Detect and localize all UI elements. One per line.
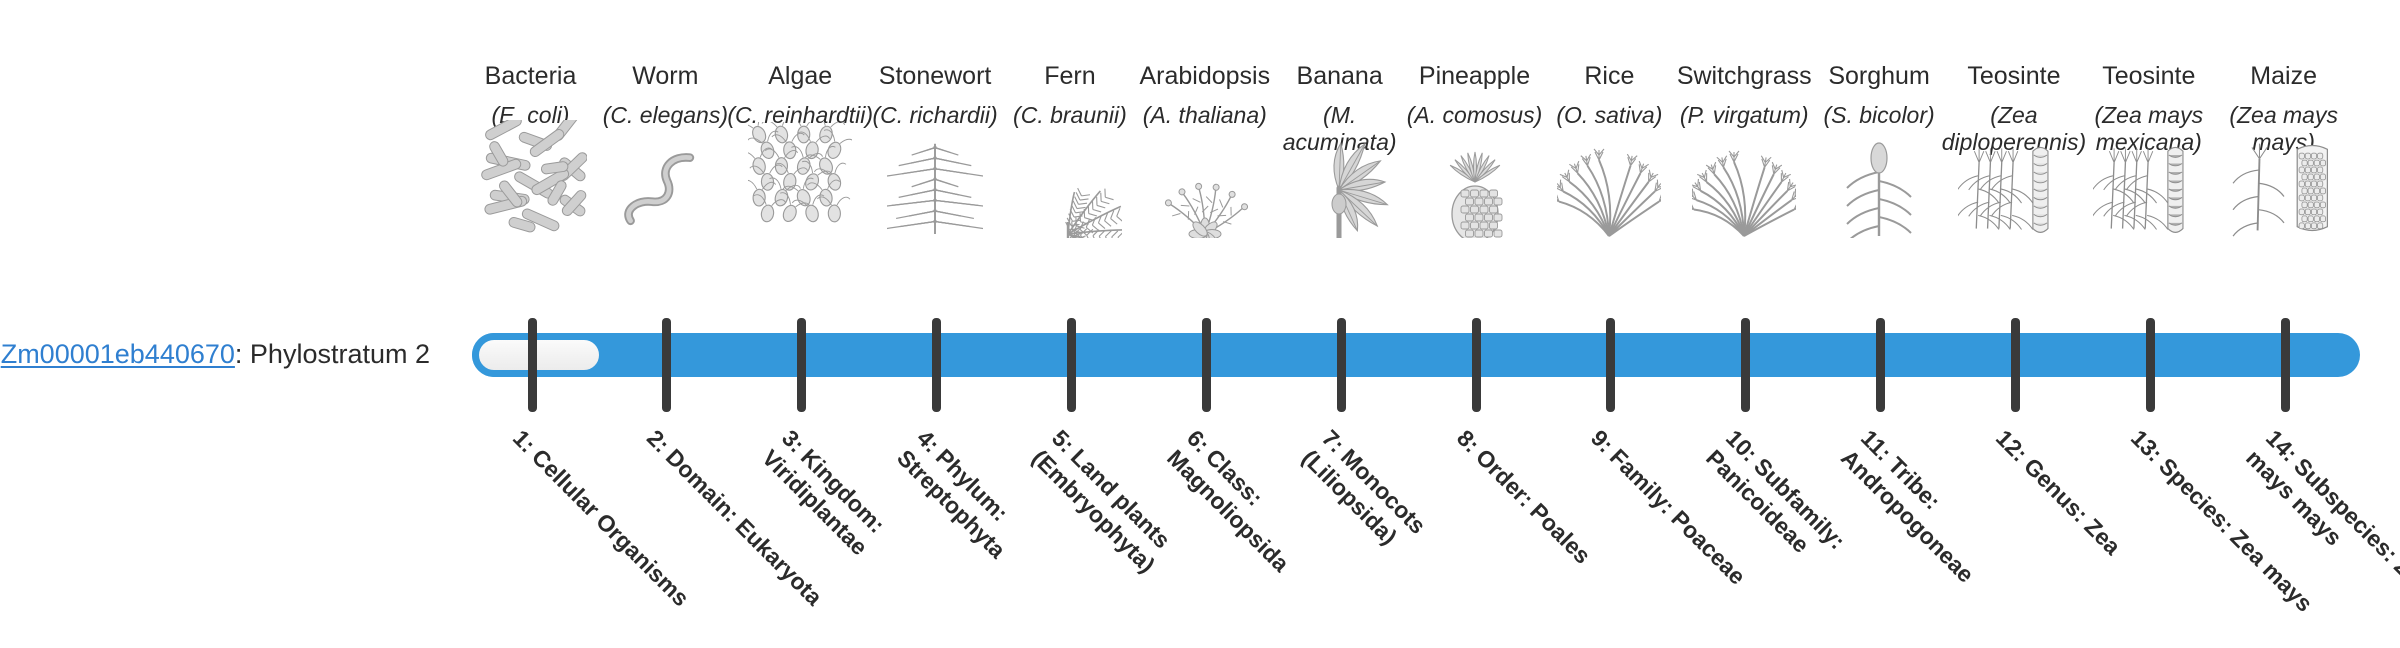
species-column: Fern(C. braunii)5: Land plants (Embryoph… bbox=[1000, 0, 1140, 580]
arabidopsis-illustration bbox=[1135, 148, 1275, 238]
species-column: Rice(O. sativa)9: Family: Poaceae bbox=[1539, 0, 1679, 580]
phylostratum-name: Subspecies: Zea mays mays bbox=[2241, 445, 2400, 600]
rice-illustration bbox=[1539, 148, 1679, 238]
banana-illustration bbox=[1270, 148, 1410, 238]
phylostratum-number: 13: bbox=[2126, 425, 2168, 467]
phylostratum-name: Phylum: Streptophyta bbox=[892, 444, 1013, 564]
species-scientific-name: (A. thaliana) bbox=[1131, 102, 1279, 129]
phylostratum-tick bbox=[1202, 318, 1211, 412]
species-column: Arabidopsis(A. thaliana)6: Class: Magnol… bbox=[1135, 0, 1275, 580]
phylostratigraphy-figure: Zm00001eb440670: Phylostratum 2 Bacteria… bbox=[0, 0, 2400, 580]
phylostratum-tick bbox=[1067, 318, 1076, 412]
phylostratum-tick bbox=[2011, 318, 2020, 412]
phylostratum-tick bbox=[2146, 318, 2155, 412]
species-column: Sorghum(S. bicolor)11: Tribe: Andropogon… bbox=[1809, 0, 1949, 580]
phylostratum-tick bbox=[932, 318, 941, 412]
switchgrass-illustration bbox=[1674, 148, 1814, 238]
species-column: Bacteria(E. coli)1: Cellular Organisms bbox=[461, 0, 601, 580]
phylostratum-tick bbox=[1741, 318, 1750, 412]
species-column: Pineapple(A. comosus)8: Order: Poales bbox=[1405, 0, 1545, 580]
phylostratum-tick bbox=[1876, 318, 1885, 412]
species-column: Teosinte(Zea mays mexicana)13: Species: … bbox=[2079, 0, 2219, 580]
species-common-name: Maize bbox=[2202, 62, 2366, 90]
bacteria-illustration bbox=[461, 148, 601, 238]
phylostratum-tick bbox=[797, 318, 806, 412]
species-column: Teosinte(Zea diploperennis)12: Genus: Ze… bbox=[1944, 0, 2084, 580]
species-column: Maize(Zea mays mays)14: Subspecies: Zea … bbox=[2214, 0, 2354, 580]
phylostratum-number: 12: bbox=[1991, 425, 2033, 467]
maize-illustration bbox=[2214, 148, 2354, 238]
species-scientific-name: (C. braunii) bbox=[996, 102, 1144, 129]
algae-illustration bbox=[730, 148, 870, 238]
species-column: Algae(C. reinhardtii)3: Kingdom: Viridip… bbox=[730, 0, 870, 580]
gene-label-separator: : bbox=[235, 339, 250, 369]
gene-phylostratum-text: Phylostratum 2 bbox=[250, 339, 430, 369]
species-scientific-name: (C. elegans) bbox=[591, 102, 739, 129]
species-scientific-name: (O. sativa) bbox=[1535, 102, 1683, 129]
stonewort-illustration bbox=[865, 148, 1005, 238]
phylostratum-tick bbox=[2281, 318, 2290, 412]
gene-phylostratum-label: Zm00001eb440670: Phylostratum 2 bbox=[0, 338, 430, 370]
phylostratum-tick bbox=[662, 318, 671, 412]
phylostratum-tick bbox=[1472, 318, 1481, 412]
species-column: Worm(C. elegans)2: Domain: Eukaryota bbox=[595, 0, 735, 580]
worm-illustration bbox=[595, 148, 735, 238]
teosinte-diploperennis-illustration bbox=[1944, 148, 2084, 238]
species-scientific-name: (C. richardii) bbox=[861, 102, 1009, 129]
species-column: Banana(M. acuminata)7: Monocots (Liliops… bbox=[1270, 0, 1410, 580]
phylostratum-tick bbox=[528, 318, 537, 412]
phylostratum-tick bbox=[1337, 318, 1346, 412]
species-column: Stonewort(C. richardii)4: Phylum: Strept… bbox=[865, 0, 1005, 580]
sorghum-illustration bbox=[1809, 148, 1949, 238]
species-scientific-name: (A. comosus) bbox=[1401, 102, 1549, 129]
phylostratum-tick bbox=[1606, 318, 1615, 412]
species-column: Switchgrass(P. virgatum)10: Subfamily: P… bbox=[1674, 0, 1814, 580]
species-scientific-name: (S. bicolor) bbox=[1805, 102, 1953, 129]
gene-id-link[interactable]: Zm00001eb440670 bbox=[1, 339, 235, 369]
fern-illustration bbox=[1000, 148, 1140, 238]
teosinte-mexicana-illustration bbox=[2079, 148, 2219, 238]
species-scientific-name: (P. virgatum) bbox=[1670, 102, 1818, 129]
pineapple-illustration bbox=[1405, 148, 1545, 238]
